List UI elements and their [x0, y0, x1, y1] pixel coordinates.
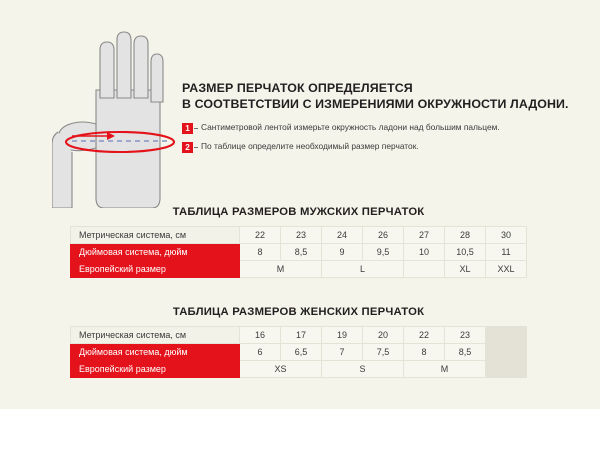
men-cell: 9 — [322, 244, 363, 261]
women-cell: 23 — [445, 327, 486, 344]
hand-palm-measure-diagram — [52, 28, 187, 208]
men-cell: 28 — [445, 227, 486, 244]
women-row-label: Метрическая система, см — [71, 327, 240, 344]
instruction-step: 1 Сантиметровой лентой измерьте окружнос… — [182, 122, 582, 134]
men-size-table: Метрическая система, см22232426272830Дюй… — [70, 226, 527, 278]
intro-title: РАЗМЕР ПЕРЧАТОК ОПРЕДЕЛЯЕТСЯ В СООТВЕТСТ… — [182, 80, 582, 112]
women-cell: 6 — [240, 344, 281, 361]
men-cell: 30 — [486, 227, 527, 244]
women-cell: XS — [240, 361, 322, 378]
women-cell: 6,5 — [281, 344, 322, 361]
women-cell: M — [404, 361, 486, 378]
women-cell: 8 — [404, 344, 445, 361]
women-cell — [486, 327, 527, 344]
table-row: Дюймовая система, дюйм66,577,588,5 — [71, 344, 527, 361]
intro-block: РАЗМЕР ПЕРЧАТОК ОПРЕДЕЛЯЕТСЯ В СООТВЕТСТ… — [182, 80, 582, 160]
women-cell: 22 — [404, 327, 445, 344]
instruction-steps: 1 Сантиметровой лентой измерьте окружнос… — [182, 122, 582, 153]
content-canvas: РАЗМЕР ПЕРЧАТОК ОПРЕДЕЛЯЕТСЯ В СООТВЕТСТ… — [0, 0, 600, 409]
step-text: Сантиметровой лентой измерьте окружность… — [201, 122, 500, 134]
intro-title-line-2: В СООТВЕТСТВИИ С ИЗМЕРЕНИЯМИ ОКРУЖНОСТИ … — [182, 96, 582, 112]
women-cell: 20 — [363, 327, 404, 344]
women-table-title: ТАБЛИЦА РАЗМЕРОВ ЖЕНСКИХ ПЕРЧАТОК — [70, 306, 527, 318]
women-cell: 16 — [240, 327, 281, 344]
women-table-body: Метрическая система, см161719202223Дюймо… — [71, 327, 527, 378]
men-cell: 22 — [240, 227, 281, 244]
women-cell: 8,5 — [445, 344, 486, 361]
men-cell: 8 — [240, 244, 281, 261]
step-dash-icon — [194, 147, 198, 148]
women-size-table: Метрическая система, см161719202223Дюймо… — [70, 326, 527, 378]
intro-title-line-1: РАЗМЕР ПЕРЧАТОК ОПРЕДЕЛЯЕТСЯ — [182, 80, 582, 96]
men-cell — [404, 261, 445, 278]
men-cell: 8,5 — [281, 244, 322, 261]
men-cell: L — [322, 261, 404, 278]
instruction-step: 2 По таблице определите необходимый разм… — [182, 141, 582, 153]
men-cell: XXL — [486, 261, 527, 278]
men-cell: 24 — [322, 227, 363, 244]
women-cell: 7,5 — [363, 344, 404, 361]
men-cell: 26 — [363, 227, 404, 244]
step-number-badge: 1 — [182, 123, 193, 134]
table-row: Метрическая система, см161719202223 — [71, 327, 527, 344]
men-row-label: Метрическая система, см — [71, 227, 240, 244]
table-row: Метрическая система, см22232426272830 — [71, 227, 527, 244]
women-cell — [486, 361, 527, 378]
women-cell — [486, 344, 527, 361]
women-row-label: Европейский размер — [71, 361, 240, 378]
step-text: По таблице определите необходимый размер… — [201, 141, 419, 153]
step-number-badge: 2 — [182, 142, 193, 153]
men-row-label: Дюймовая система, дюйм — [71, 244, 240, 261]
table-row: Дюймовая система, дюйм88,599,51010,511 — [71, 244, 527, 261]
men-row-label: Европейский размер — [71, 261, 240, 278]
size-chart-page: РАЗМЕР ПЕРЧАТОК ОПРЕДЕЛЯЕТСЯ В СООТВЕТСТ… — [0, 0, 600, 450]
men-cell: 10,5 — [445, 244, 486, 261]
men-cell: 23 — [281, 227, 322, 244]
table-row: Европейский размерMLXLXXL — [71, 261, 527, 278]
step-dash-icon — [194, 128, 198, 129]
women-cell: S — [322, 361, 404, 378]
women-cell: 17 — [281, 327, 322, 344]
women-cell: 7 — [322, 344, 363, 361]
men-cell: 9,5 — [363, 244, 404, 261]
hand-illustration-svg — [52, 28, 187, 208]
men-cell: 27 — [404, 227, 445, 244]
men-table-title: ТАБЛИЦА РАЗМЕРОВ МУЖСКИХ ПЕРЧАТОК — [70, 206, 527, 218]
hand-outline-icon — [52, 32, 163, 208]
women-row-label: Дюймовая система, дюйм — [71, 344, 240, 361]
table-row: Европейский размерXSSM — [71, 361, 527, 378]
women-cell: 19 — [322, 327, 363, 344]
men-cell: XL — [445, 261, 486, 278]
men-cell: 10 — [404, 244, 445, 261]
men-cell: M — [240, 261, 322, 278]
men-table-body: Метрическая система, см22232426272830Дюй… — [71, 227, 527, 278]
men-cell: 11 — [486, 244, 527, 261]
